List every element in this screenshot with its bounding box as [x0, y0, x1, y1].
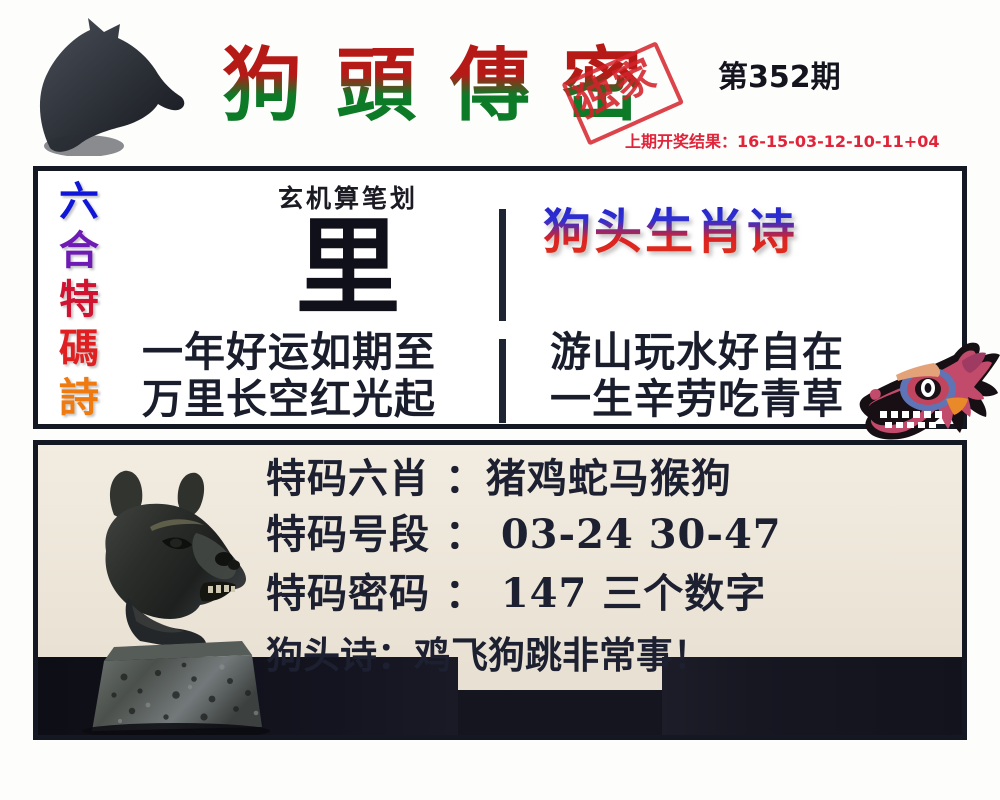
poster-root: 狗 頭 傳 密 独家 第352期 上期开奖结果：16-15-03-12-10-1… — [0, 0, 1000, 800]
dog-silhouette-photo — [28, 16, 198, 156]
vertical-divider-bottom — [499, 339, 506, 423]
title-char-2: 傳 — [450, 42, 530, 128]
title-char-3: 密 — [562, 42, 642, 128]
title-char-1: 頭 — [336, 42, 416, 128]
vertical-title-char-2: 特 — [48, 275, 110, 324]
poem-left-line-0: 一年好运如期至 — [142, 329, 492, 376]
xuanji-character: 里 — [233, 211, 463, 323]
shengxiao-poem-title: 狗头生肖诗 — [543, 203, 798, 261]
result-lines: 特码六肖 ：猪鸡蛇马猴狗 特码号段 ： 03-24 30-47 特码密码 ： 1… — [266, 451, 966, 685]
poem-left-line-1: 万里长空红光起 — [142, 376, 492, 423]
vertical-divider-top — [499, 209, 506, 321]
last-draw-result: 上期开奖结果：16-15-03-12-10-11+04 — [625, 128, 939, 152]
issue-number: 第352期 — [718, 52, 841, 96]
title-char-0: 狗 — [222, 42, 302, 128]
poem-left: 一年好运如期至 万里长空红光起 — [142, 329, 492, 423]
result-line-2: 特码密码 ： 147 三个数字 — [266, 563, 966, 625]
poem-right-line-0: 游山玩水好自在 — [550, 329, 950, 376]
vertical-title: 六 合 特 碼 詩 — [48, 177, 110, 425]
header: 狗 頭 傳 密 独家 第352期 上期开奖结果：16-15-03-12-10-1… — [0, 0, 1000, 160]
result-panel: 特码六肖 ：猪鸡蛇马猴狗 特码号段 ： 03-24 30-47 特码密码 ： 1… — [33, 440, 967, 740]
vertical-title-char-3: 碼 — [48, 324, 110, 373]
result-line-0: 特码六肖 ：猪鸡蛇马猴狗 — [266, 451, 966, 507]
poem-panel: 六 合 特 碼 詩 玄机算笔划 里 狗头生肖诗 — [33, 166, 967, 429]
poem-right-line-1: 一生辛劳吃青草 — [550, 376, 950, 423]
page-title: 狗 頭 傳 密 — [222, 42, 682, 138]
result-line-3: 狗头诗：鸡飞狗跳非常事！ — [266, 625, 966, 685]
vertical-title-char-0: 六 — [48, 177, 110, 226]
vertical-title-char-1: 合 — [48, 226, 110, 275]
poem-right: 游山玩水好自在 一生辛劳吃青草 — [550, 329, 950, 423]
result-line-1: 特码号段 ： 03-24 30-47 — [266, 507, 966, 563]
bronze-dog-statue-photo — [66, 455, 281, 735]
vertical-title-char-4: 詩 — [48, 373, 110, 422]
